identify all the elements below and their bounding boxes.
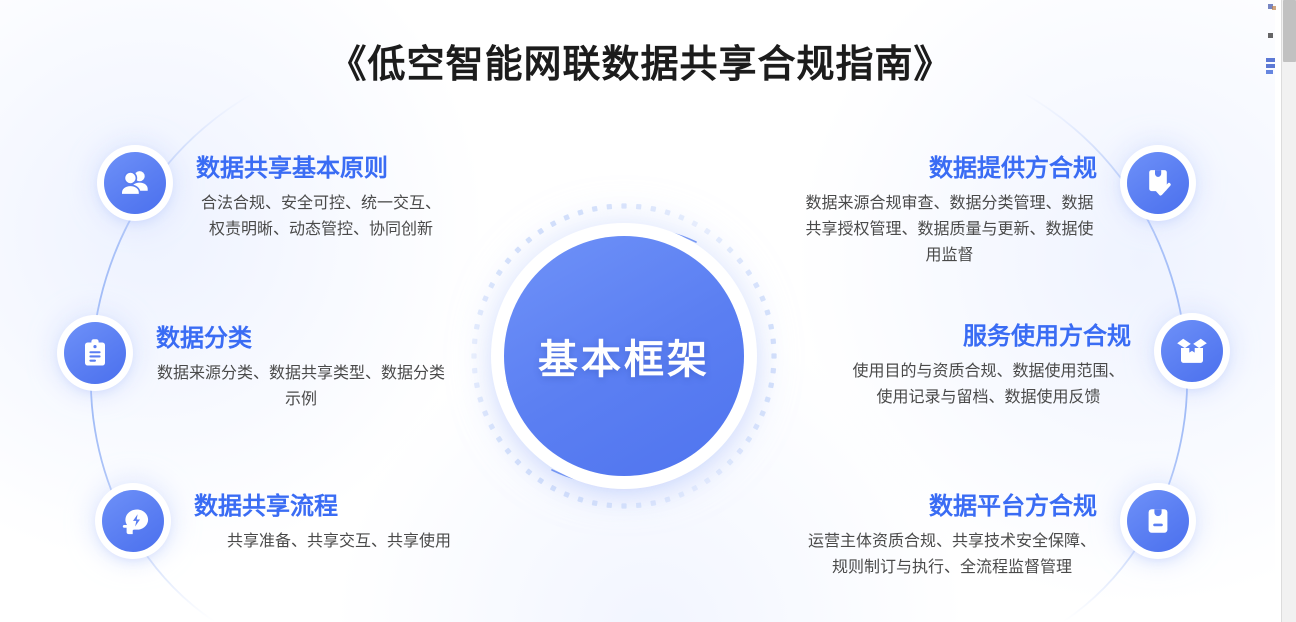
spoke-heading-user: 服务使用方合规 <box>846 322 1131 352</box>
infographic-canvas: 《低空智能网联数据共享合规指南》 <box>0 0 1281 622</box>
users-icon-bubble[interactable] <box>104 152 166 214</box>
spoke-text-process: 数据共享流程 共享准备、共享交互、共享使用 <box>194 490 484 555</box>
users-icon <box>118 166 152 200</box>
spoke-text-platform: 数据平台方合规 运营主体资质合规、共享技术安全保障、规则制订与执行、全流程监督管… <box>807 490 1097 581</box>
center-label: 基本框架 <box>538 327 710 385</box>
document-check-icon-bubble[interactable] <box>1127 152 1189 214</box>
document-check-icon <box>1142 167 1174 199</box>
spoke-heading-provider: 数据提供方合规 <box>802 154 1097 184</box>
brain-head-icon <box>117 505 150 538</box>
vertical-scrollbar-thumb[interactable] <box>1283 0 1296 62</box>
spoke-text-principles: 数据共享基本原则 合法合规、安全可控、统一交互、权责明晰、动态管控、协同创新 <box>196 152 446 243</box>
brain-head-icon-bubble[interactable] <box>102 490 164 552</box>
spoke-text-classification: 数据分类 数据来源分类、数据共享类型、数据分类示例 <box>156 322 446 413</box>
clipped-edge-content <box>1266 0 1280 130</box>
spoke-description-platform: 运营主体资质合规、共享技术安全保障、规则制订与执行、全流程监督管理 <box>807 529 1097 581</box>
clipboard-icon <box>79 337 111 369</box>
open-box-icon-bubble[interactable] <box>1161 320 1223 382</box>
vertical-scrollbar-track[interactable] <box>1281 0 1296 622</box>
center-circle: 基本框架 <box>504 236 744 476</box>
spoke-description-principles: 合法合规、安全可控、统一交互、权责明晰、动态管控、协同创新 <box>196 191 446 243</box>
clipboard-icon-bubble[interactable] <box>64 322 126 384</box>
document-form-icon <box>1142 505 1174 537</box>
spoke-heading-platform: 数据平台方合规 <box>807 492 1097 522</box>
spoke-description-provider: 数据来源合规审查、数据分类管理、数据共享授权管理、数据质量与更新、数据使用监督 <box>802 191 1097 269</box>
spoke-heading-classification: 数据分类 <box>156 324 446 354</box>
spoke-item-provider[interactable]: 数据提供方合规 数据来源合规审查、数据分类管理、数据共享授权管理、数据质量与更新… <box>802 152 1189 269</box>
open-box-icon <box>1174 335 1210 367</box>
spoke-item-platform[interactable]: 数据平台方合规 运营主体资质合规、共享技术安全保障、规则制订与执行、全流程监督管… <box>807 490 1189 581</box>
spoke-description-user: 使用目的与资质合规、数据使用范围、使用记录与留档、数据使用反馈 <box>846 359 1131 411</box>
spoke-item-principles[interactable]: 数据共享基本原则 合法合规、安全可控、统一交互、权责明晰、动态管控、协同创新 <box>104 152 446 243</box>
spoke-text-user: 服务使用方合规 使用目的与资质合规、数据使用范围、使用记录与留档、数据使用反馈 <box>846 320 1131 411</box>
spoke-text-provider: 数据提供方合规 数据来源合规审查、数据分类管理、数据共享授权管理、数据质量与更新… <box>802 152 1097 269</box>
spoke-description-classification: 数据来源分类、数据共享类型、数据分类示例 <box>156 361 446 413</box>
spoke-heading-process: 数据共享流程 <box>194 492 484 522</box>
spoke-heading-principles: 数据共享基本原则 <box>196 154 446 184</box>
spoke-item-user[interactable]: 服务使用方合规 使用目的与资质合规、数据使用范围、使用记录与留档、数据使用反馈 <box>846 320 1223 411</box>
center-hub: 基本框架 <box>504 236 744 476</box>
spoke-description-process: 共享准备、共享交互、共享使用 <box>194 529 484 555</box>
document-form-icon-bubble[interactable] <box>1127 490 1189 552</box>
spoke-item-process[interactable]: 数据共享流程 共享准备、共享交互、共享使用 <box>102 490 484 555</box>
page-title: 《低空智能网联数据共享合规指南》 <box>0 33 1281 88</box>
spoke-item-classification[interactable]: 数据分类 数据来源分类、数据共享类型、数据分类示例 <box>64 322 446 413</box>
